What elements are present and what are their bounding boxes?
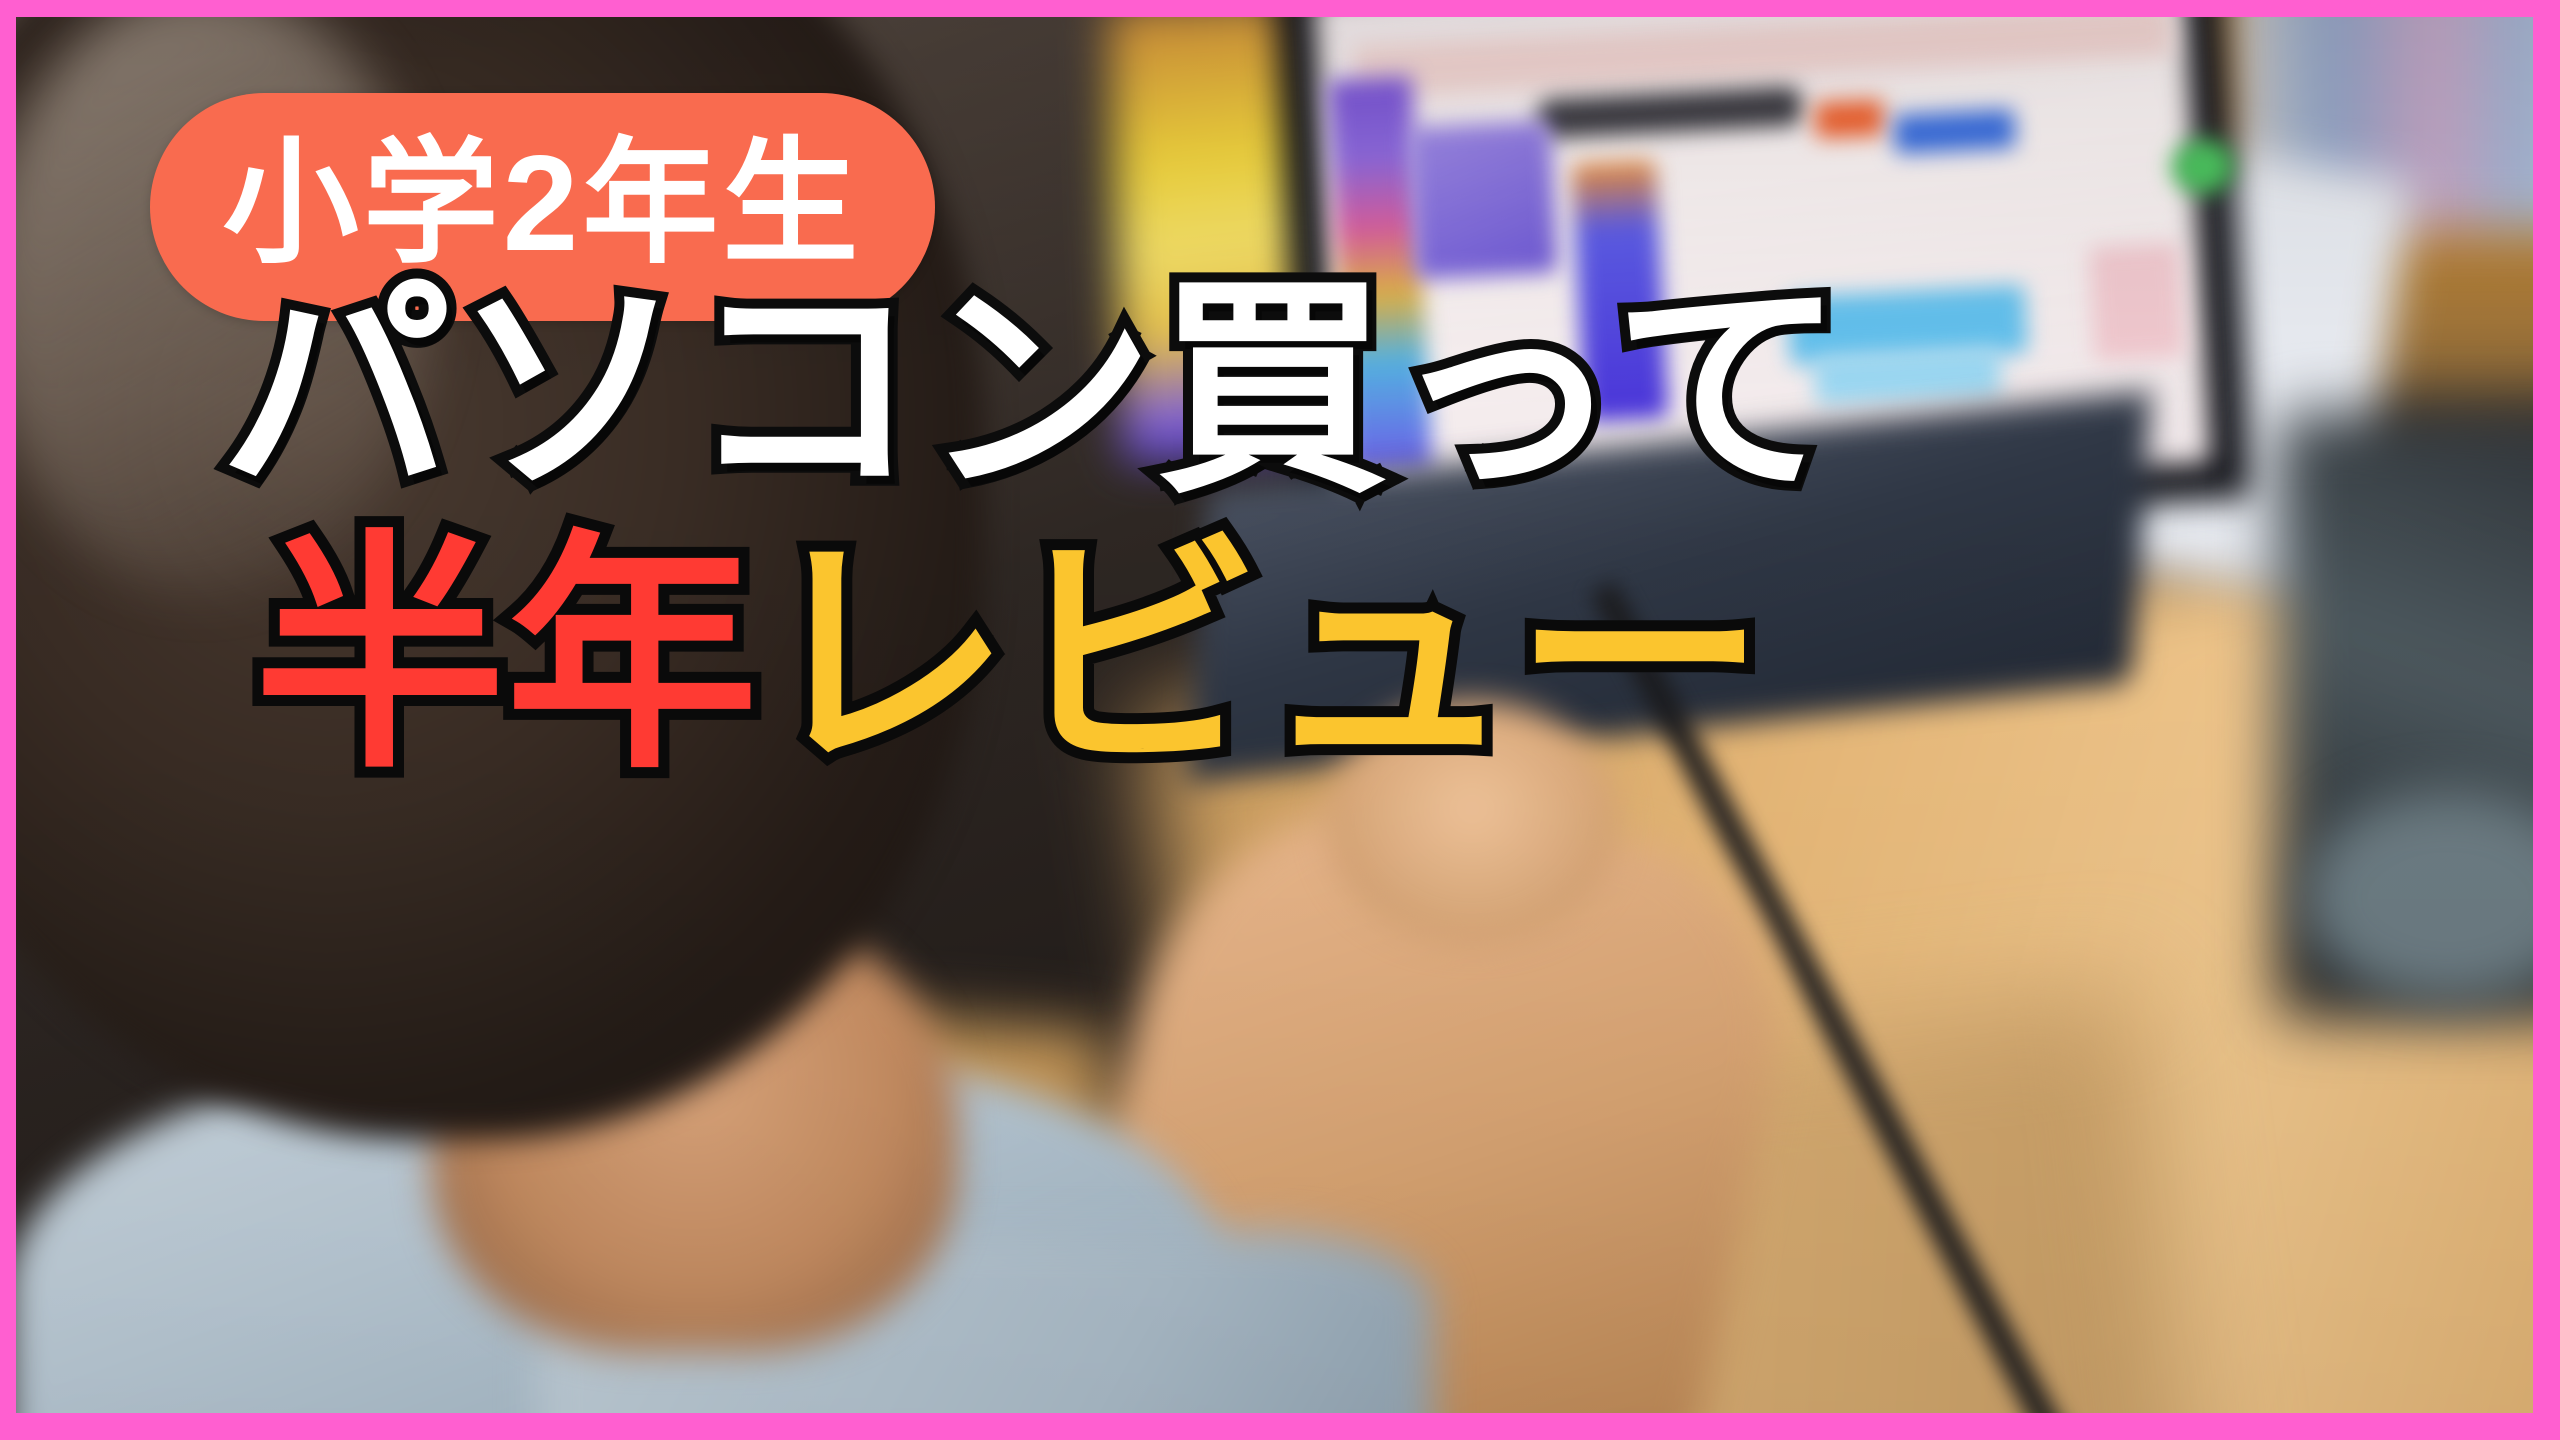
thumbnail-root: 小学2年生 パソコン買って 半年レビュー: [0, 0, 2560, 1440]
title-block: パソコン買って 半年レビュー: [206, 275, 2436, 783]
screen-code-blocks: [1408, 120, 1558, 279]
title-line-1: パソコン買って: [220, 275, 2436, 507]
screen-orange-blob: [1814, 99, 1884, 139]
title-line-2-segment-red: 半年: [254, 516, 758, 797]
title-line-2: 半年レビュー: [254, 531, 2436, 783]
thumbnail-inner-frame: 小学2年生 パソコン買って 半年レビュー: [16, 17, 2533, 1413]
screen-blue-blob: [1893, 108, 2016, 154]
grade-badge-label: 小学2年生: [223, 135, 863, 271]
title-line-2-segment-yellow: レビュー: [758, 516, 1766, 797]
